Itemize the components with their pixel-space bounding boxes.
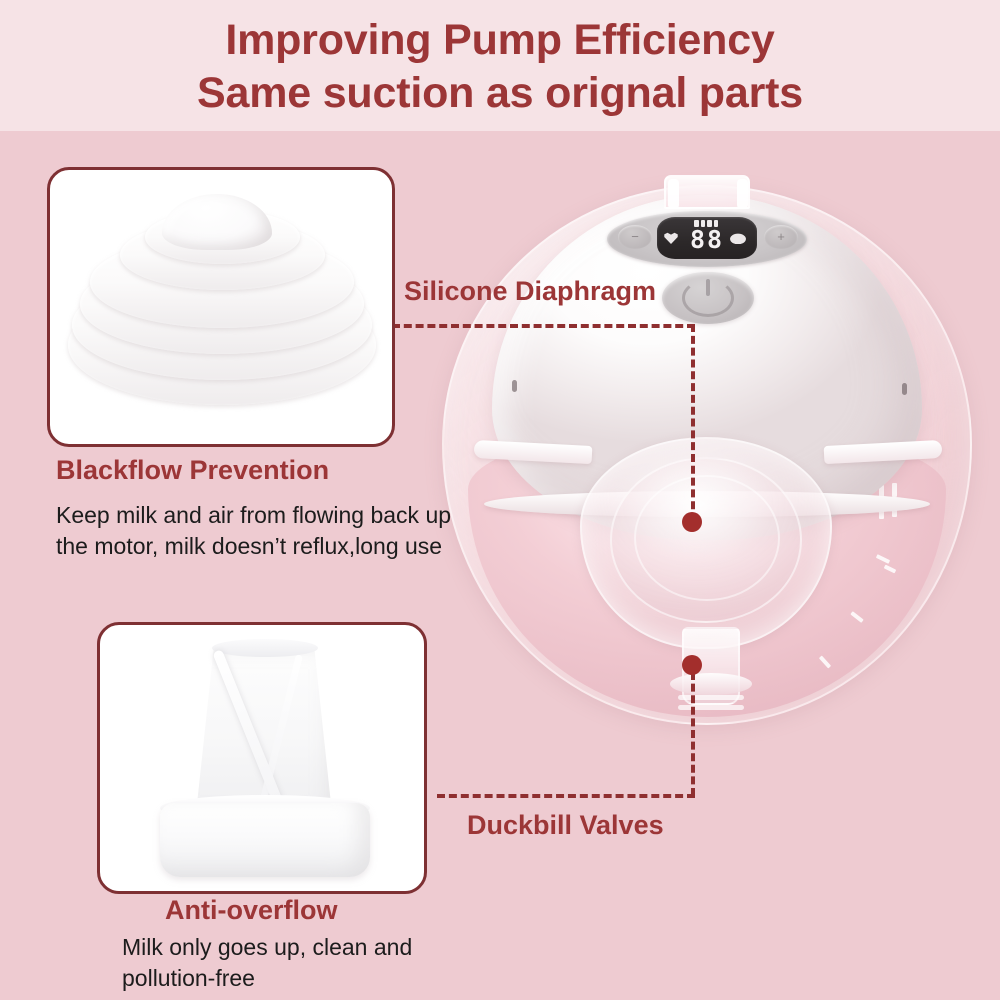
leader-line-diaphragm-horizontal	[392, 324, 695, 328]
header-title-line-1: Improving Pump Efficiency	[0, 16, 1000, 65]
infographic-page: Improving Pump Efficiency Same suction a…	[0, 0, 1000, 1000]
diaphragm-center-dome	[162, 194, 272, 250]
breast-pump-illustration: − + 88	[432, 175, 982, 735]
spout-tab-right	[737, 179, 748, 209]
power-icon-stem	[706, 279, 710, 296]
pump-outlet-ring	[678, 705, 744, 710]
spout-tab-left	[668, 179, 679, 209]
minus-icon: −	[625, 231, 645, 243]
feature-body-backflow: Keep milk and air from flowing back up t…	[56, 500, 456, 562]
graduation-mark	[892, 483, 897, 497]
vent-hole-icon	[512, 380, 517, 392]
duckbill-base	[160, 803, 370, 877]
duckbill-top-opening	[212, 639, 318, 657]
plus-icon: +	[771, 231, 791, 243]
photo-card-duckbill-valve	[97, 622, 427, 894]
feature-title-backflow: Blackflow Prevention	[56, 455, 329, 486]
callout-label-duckbill-valves: Duckbill Valves	[467, 810, 664, 841]
pump-outlet-ring	[678, 695, 744, 700]
callout-label-silicone-diaphragm: Silicone Diaphragm	[404, 276, 656, 307]
leader-line-duckbill-horizontal	[437, 794, 695, 798]
pump-outlet-cap	[670, 673, 752, 695]
leader-line-duckbill-vertical	[691, 672, 695, 796]
leader-dot-diaphragm	[682, 512, 702, 532]
feature-body-anti-overflow: Milk only goes up, clean and pollution-f…	[122, 932, 502, 994]
silicone-diaphragm-artwork	[50, 170, 392, 444]
photo-card-silicone-diaphragm	[47, 167, 395, 447]
vent-hole-icon	[902, 383, 907, 395]
feature-title-anti-overflow: Anti-overflow	[165, 895, 338, 926]
pump-flange-inner-ring	[634, 475, 780, 601]
leader-dot-duckbill	[682, 655, 702, 675]
lcd-level-digits: 88	[681, 227, 733, 253]
duckbill-valve-artwork	[100, 625, 424, 891]
leader-line-diaphragm-vertical	[691, 324, 695, 521]
header-band: Improving Pump Efficiency Same suction a…	[0, 0, 1000, 131]
header-title-line-2: Same suction as orignal parts	[0, 69, 1000, 118]
